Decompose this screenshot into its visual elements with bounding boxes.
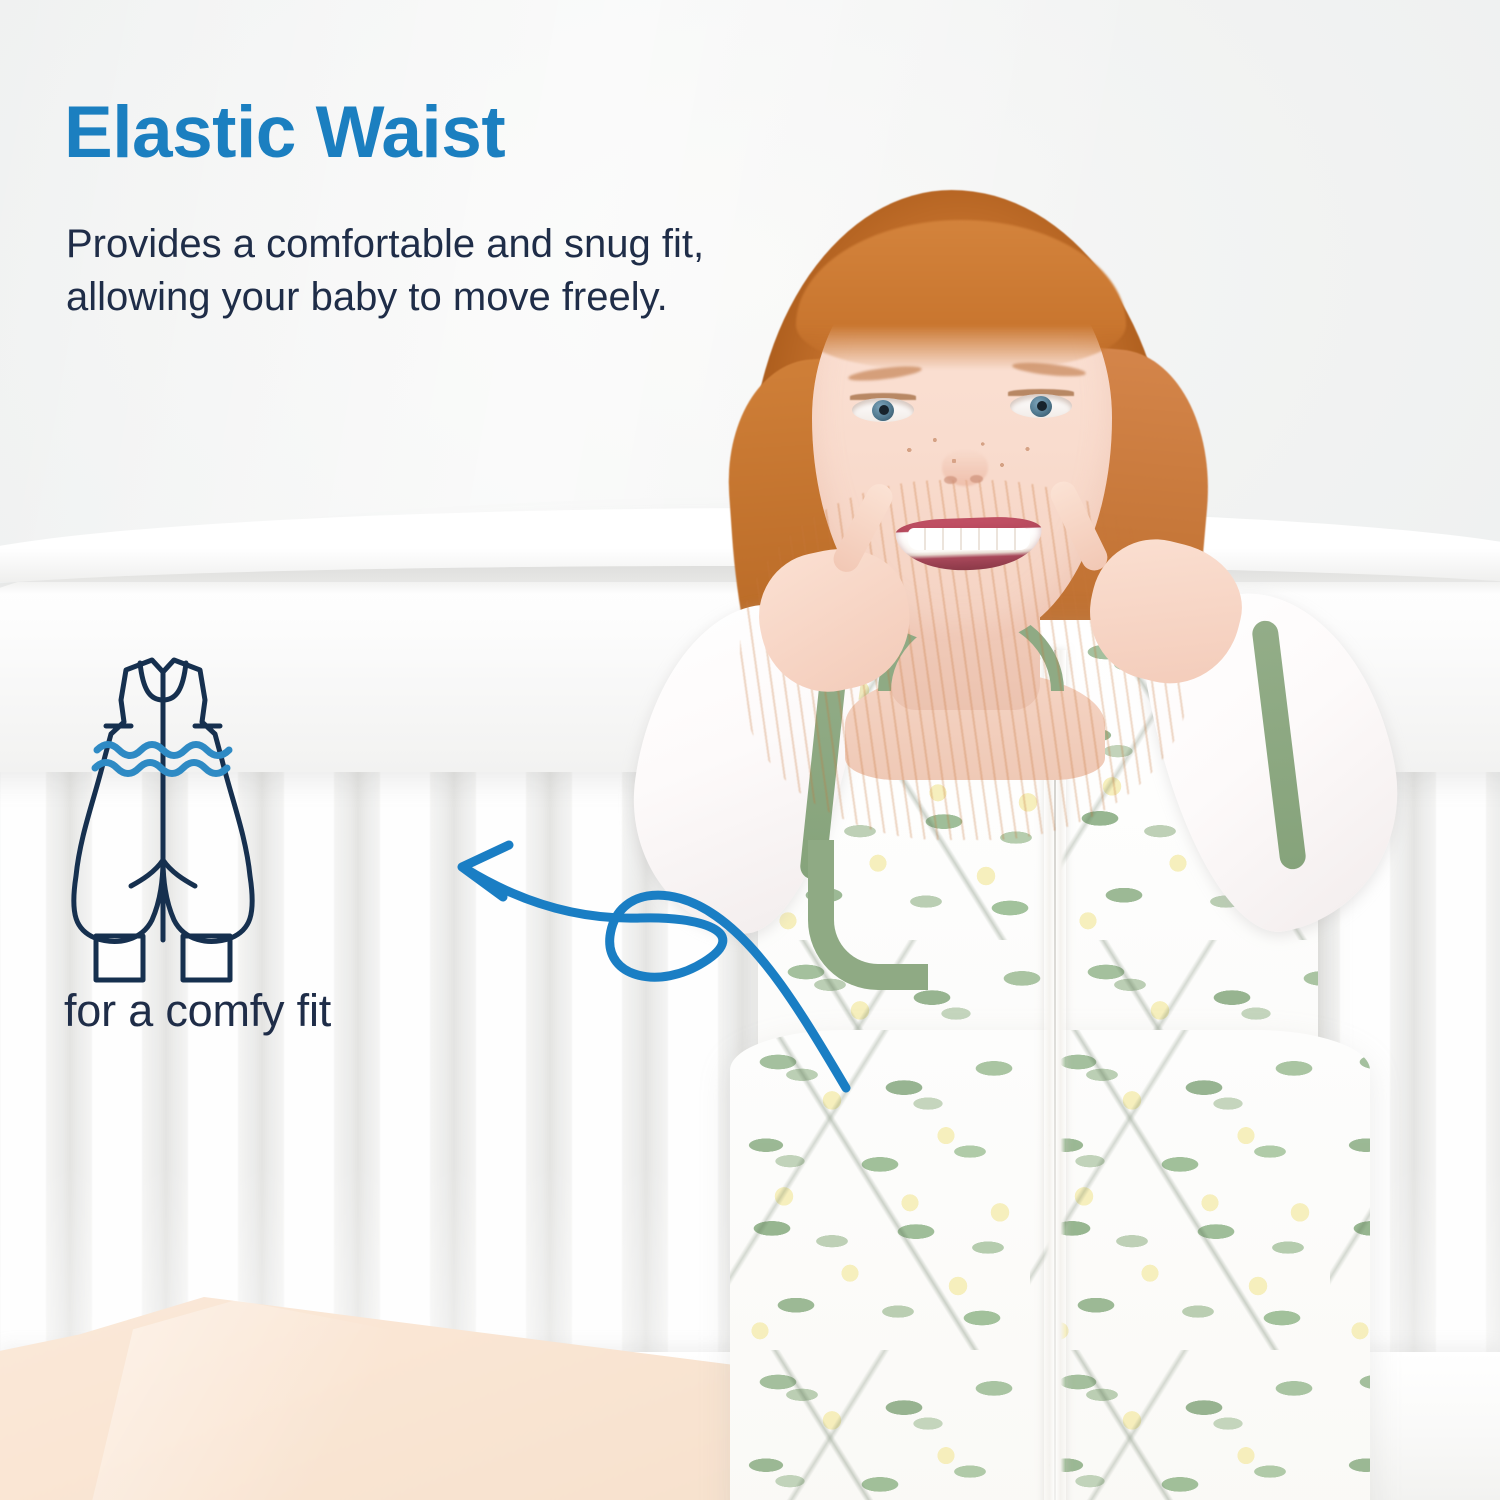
product-feature-panel: Elastic Waist Provides a comfortable and… [0,0,1500,1500]
child-photo [560,150,1440,1500]
teeth [908,528,1030,550]
eye-left [852,398,914,422]
nostril-left [944,476,957,484]
eye-right [1010,394,1072,418]
armhole-binding-curve [808,840,928,990]
nostril-right [970,475,983,483]
page-title: Elastic Waist [64,96,505,169]
icon-caption: for a comfy fit [64,985,331,1037]
page-subtitle: Provides a comfortable and snug fit, all… [66,218,796,324]
